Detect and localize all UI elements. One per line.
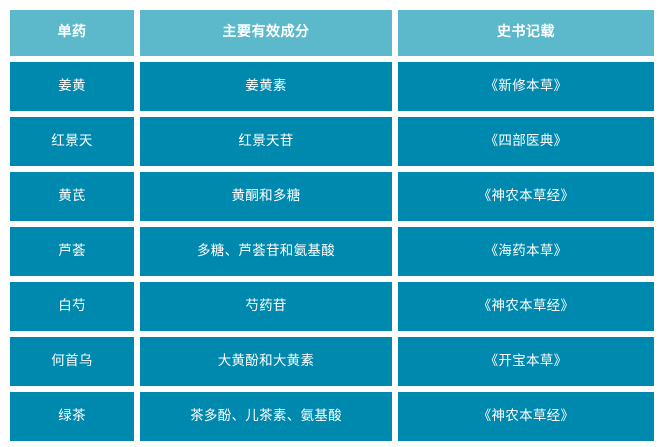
cell-drug: 姜黄 <box>10 62 134 111</box>
table-row: 芦荟 多糖、芦荟苷和氨基酸 《海药本草》 <box>10 227 654 276</box>
cell-drug: 芦荟 <box>10 227 134 276</box>
cell-drug: 黄芪 <box>10 172 134 221</box>
column-header-active: 主要有效成分 <box>140 10 392 56</box>
cell-drug: 何首乌 <box>10 337 134 386</box>
table-row: 红景天 红景天苷 《四部医典》 <box>10 117 654 166</box>
cell-drug: 绿茶 <box>10 392 134 441</box>
column-header-drug: 单药 <box>10 10 134 56</box>
column-header-record: 史书记载 <box>398 10 654 56</box>
cell-active: 红景天苷 <box>140 117 392 166</box>
cell-active: 姜黄素 <box>140 62 392 111</box>
cell-active: 大黄酚和大黄素 <box>140 337 392 386</box>
cell-active: 黄酮和多糖 <box>140 172 392 221</box>
cell-drug: 红景天 <box>10 117 134 166</box>
cell-active: 茶多酚、儿茶素、氨基酸 <box>140 392 392 441</box>
cell-record: 《神农本草经》 <box>398 392 654 441</box>
table-row: 绿茶 茶多酚、儿茶素、氨基酸 《神农本草经》 <box>10 392 654 441</box>
herb-ingredient-table: 单药 主要有效成分 史书记载 姜黄 姜黄素 《新修本草》 红景天 红景天苷 《四… <box>4 4 658 447</box>
cell-record: 《海药本草》 <box>398 227 654 276</box>
table-row: 姜黄 姜黄素 《新修本草》 <box>10 62 654 111</box>
table-row: 何首乌 大黄酚和大黄素 《开宝本草》 <box>10 337 654 386</box>
cell-record: 《神农本草经》 <box>398 282 654 331</box>
cell-record: 《开宝本草》 <box>398 337 654 386</box>
cell-record: 《神农本草经》 <box>398 172 654 221</box>
table-header: 单药 主要有效成分 史书记载 <box>10 10 654 56</box>
table-row: 黄芪 黄酮和多糖 《神农本草经》 <box>10 172 654 221</box>
table-header-row: 单药 主要有效成分 史书记载 <box>10 10 654 56</box>
cell-drug: 白芍 <box>10 282 134 331</box>
table-row: 白芍 芍药苷 《神农本草经》 <box>10 282 654 331</box>
cell-record: 《新修本草》 <box>398 62 654 111</box>
table-body: 姜黄 姜黄素 《新修本草》 红景天 红景天苷 《四部医典》 黄芪 黄酮和多糖 《… <box>10 62 654 441</box>
cell-active: 芍药苷 <box>140 282 392 331</box>
table-container: 单药 主要有效成分 史书记载 姜黄 姜黄素 《新修本草》 红景天 红景天苷 《四… <box>0 0 658 423</box>
cell-active: 多糖、芦荟苷和氨基酸 <box>140 227 392 276</box>
cell-record: 《四部医典》 <box>398 117 654 166</box>
